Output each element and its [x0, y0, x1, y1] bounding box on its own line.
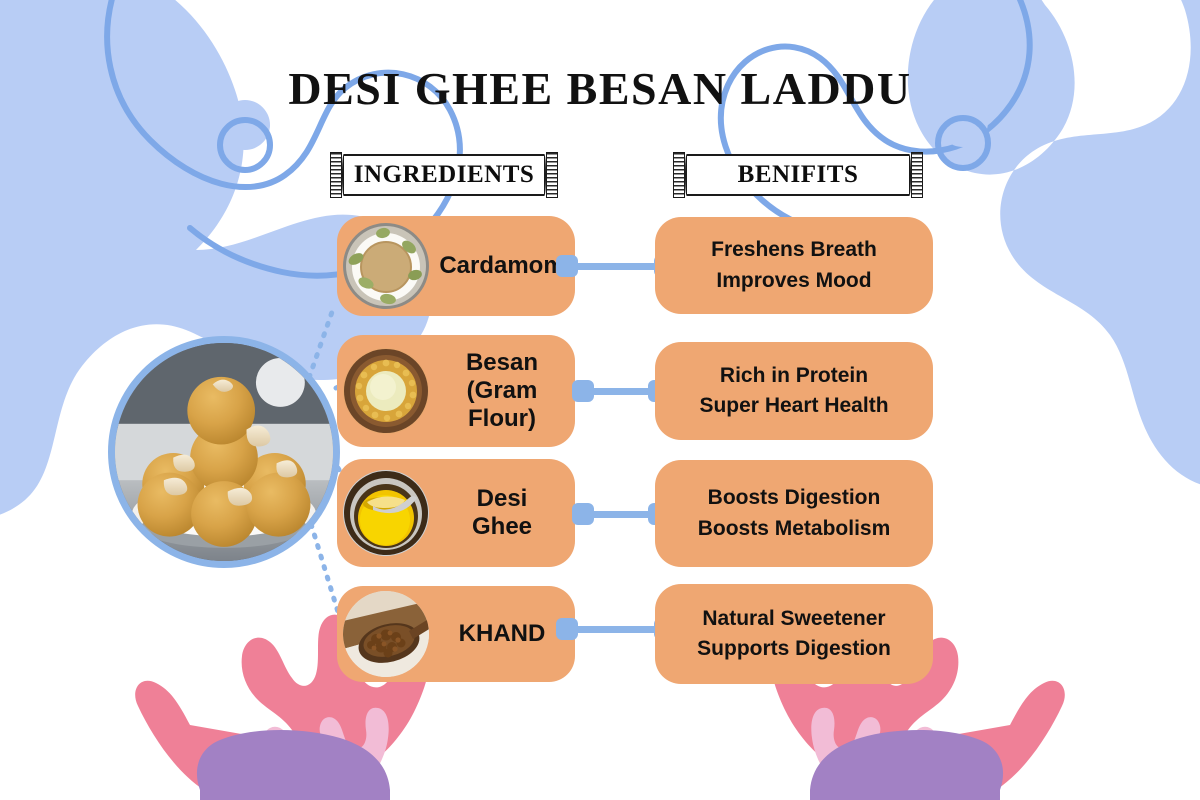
benefit-card-1[interactable]: Freshens Breath Improves Mood: [655, 217, 933, 314]
ingredient-label-4: KHAND: [429, 620, 575, 648]
lotus-purple-bottom-right: [810, 730, 1003, 800]
benefit-card-4[interactable]: Natural Sweetener Supports Digestion: [655, 584, 933, 684]
infographic-poster: Desi Ghee Besan Laddu INGREDIENTS BENIFI…: [0, 0, 1200, 800]
decor-ring-top-left: [220, 120, 270, 170]
benefit-text-1: Freshens Breath Improves Mood: [701, 235, 887, 296]
ghee-bowl-icon: [343, 470, 429, 556]
ingredient-card-3[interactable]: Desi Ghee: [337, 459, 575, 567]
ingredient-card-1[interactable]: Cardamom: [337, 216, 575, 316]
connector-bar: [578, 263, 654, 270]
lotus-purple-bottom-left: [197, 730, 390, 800]
connector-node-left: [572, 380, 594, 402]
ingredient-label-3: Desi Ghee: [429, 485, 575, 542]
banner-ingredients-label: INGREDIENTS: [330, 152, 558, 198]
benefit-text-4: Natural Sweetener Supports Digestion: [687, 604, 901, 665]
cardamom-image: [343, 223, 429, 309]
connector-bar: [594, 511, 648, 518]
ingredient-card-2[interactable]: Besan (Gram Flour): [337, 335, 575, 447]
banner-benefits-label: BENIFITS: [673, 152, 923, 198]
ingredient-card-4[interactable]: KHAND: [337, 586, 575, 682]
benefit-card-3[interactable]: Boosts Digestion Boosts Metabolism: [655, 460, 933, 567]
khand-spoon-icon: [343, 591, 429, 677]
laddu-plate-illustration: [115, 343, 333, 561]
banner-ingredients: INGREDIENTS: [330, 152, 558, 198]
benefit-text-2: Rich in Protein Super Heart Health: [689, 361, 898, 422]
ingredient-label-2: Besan (Gram Flour): [429, 349, 575, 434]
ingredient-label-1: Cardamom: [429, 252, 575, 280]
connector-bar: [594, 388, 648, 395]
connector-node-left: [556, 618, 578, 640]
connector-node-left: [556, 255, 578, 277]
cardamom-bowl-icon: [343, 223, 429, 309]
lotus-pink-light-bottom-left: [264, 708, 389, 794]
lotus-pink-light-bottom-right: [811, 708, 936, 794]
benefit-text-3: Boosts Digestion Boosts Metabolism: [688, 483, 901, 544]
connector-bar: [578, 626, 654, 633]
page-title: Desi Ghee Besan Laddu: [0, 62, 1200, 115]
hero-laddu-image: [108, 336, 340, 568]
besan-image: [343, 348, 429, 434]
banner-benefits: BENIFITS: [673, 152, 923, 198]
ghee-image: [343, 470, 429, 556]
connector-node-left: [572, 503, 594, 525]
besan-bowl-icon: [343, 348, 429, 434]
benefit-card-2[interactable]: Rich in Protein Super Heart Health: [655, 342, 933, 440]
decor-ring-top-right: [938, 118, 988, 168]
khand-image: [343, 591, 429, 677]
wave-line-top-right: [721, 0, 1030, 235]
